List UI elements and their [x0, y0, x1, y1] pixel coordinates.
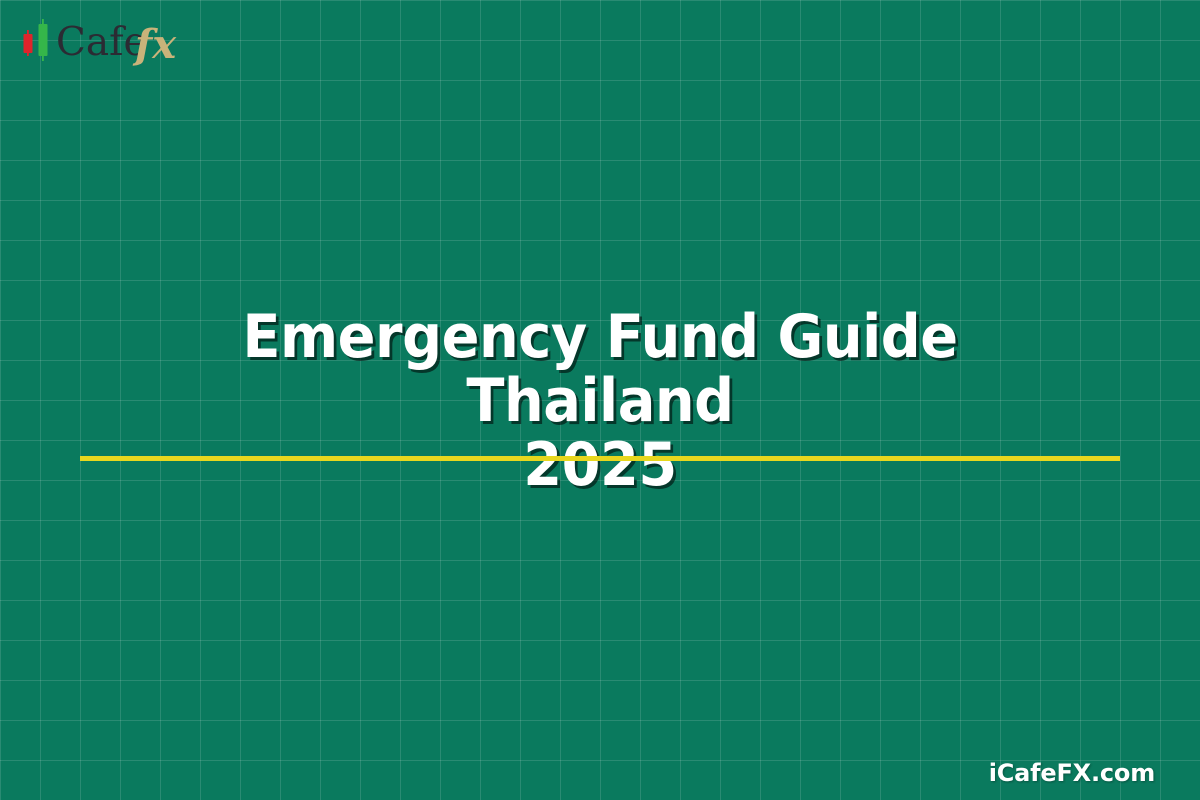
candlestick-down-icon [24, 30, 33, 56]
poster-canvas: Cafe fx Emergency Fund Guide Thailand202… [0, 0, 1200, 800]
brand-logo[interactable]: Cafe fx [18, 16, 218, 68]
logo-wordmark-text: Cafe [56, 20, 147, 65]
logo-artwork: Cafe fx [18, 16, 218, 68]
page-title-line-2: 2025 [523, 430, 676, 500]
page-title-line-1: Emergency Fund Guide Thailand [242, 302, 957, 436]
accent-divider [80, 456, 1120, 461]
title-block: Emergency Fund Guide Thailand2025 [0, 305, 1200, 498]
logo-fx-text: fx [132, 21, 177, 68]
site-watermark: iCafeFX.com [989, 759, 1155, 787]
candlestick-up-icon [39, 19, 48, 61]
page-title: Emergency Fund Guide Thailand2025 [42, 305, 1158, 498]
